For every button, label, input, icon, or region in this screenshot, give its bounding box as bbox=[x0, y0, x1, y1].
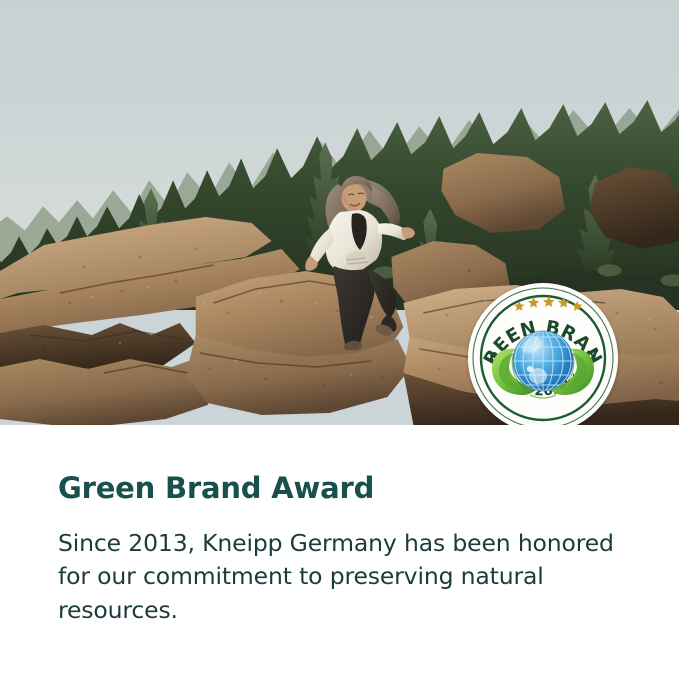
award-description: Since 2013, Kneipp Germany has been hono… bbox=[58, 527, 639, 627]
award-text-block: Green Brand Award Since 2013, Kneipp Ger… bbox=[0, 425, 679, 679]
green-brand-award-seal: GREEN BRAND Germany 2023 / 2024 bbox=[468, 283, 618, 425]
woman-climbing-rocks bbox=[298, 172, 416, 350]
hero-photo: GREEN BRAND Germany 2023 / 2024 bbox=[0, 0, 679, 425]
globe-icon bbox=[513, 331, 573, 391]
award-promo-card: GREEN BRAND Germany 2023 / 2024 bbox=[0, 0, 679, 679]
page-title: Green Brand Award bbox=[58, 473, 639, 505]
